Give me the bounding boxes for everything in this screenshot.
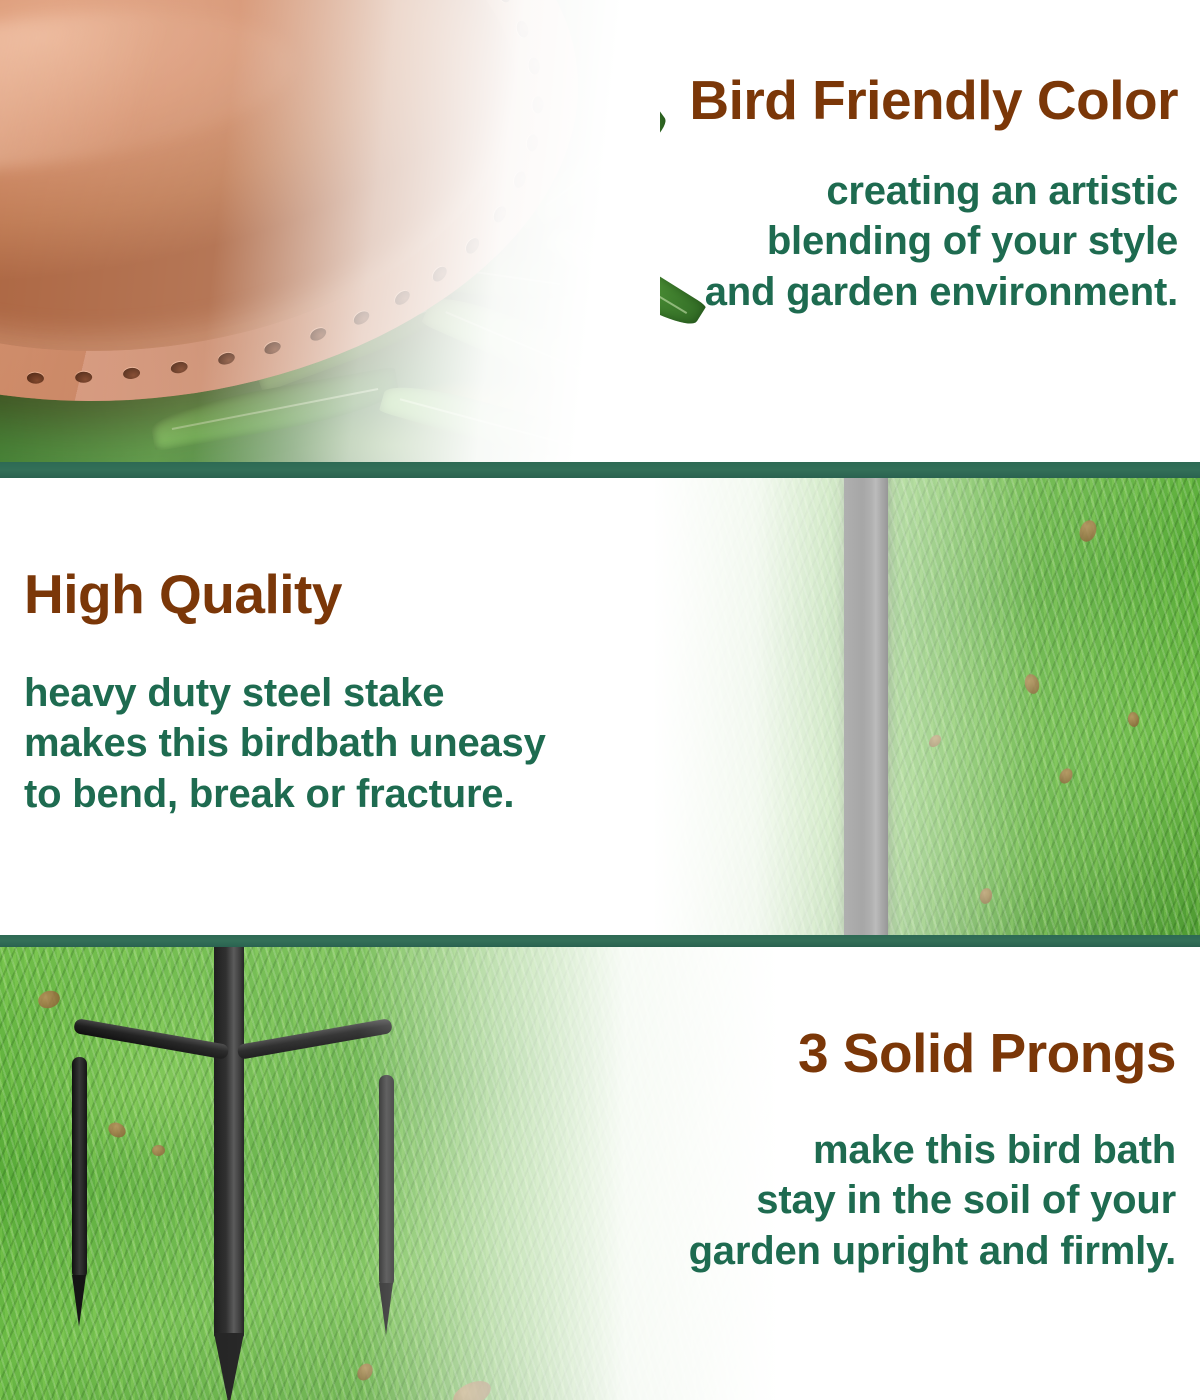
panel-1-body-line-3: and garden environment.: [578, 267, 1178, 317]
panel-1-body-line-2: blending of your style: [578, 216, 1178, 266]
panel-divider-2: [0, 935, 1200, 947]
panel-2-body: heavy duty steel stake makes this birdba…: [24, 668, 644, 819]
panel-1-body-line-1: creating an artistic: [578, 166, 1178, 216]
panel-1-body: creating an artistic blending of your st…: [578, 166, 1178, 317]
panel-high-quality: High Quality heavy duty steel stake make…: [0, 478, 1200, 935]
panel-3-body-line-2: stay in the soil of your: [576, 1175, 1176, 1225]
product-feature-infographic: Bird Friendly Color creating an artistic…: [0, 0, 1200, 1400]
panel-2-body-line-2: makes this birdbath uneasy: [24, 718, 644, 768]
panel-3-body-line-3: garden upright and firmly.: [576, 1226, 1176, 1276]
panel-divider-1: [0, 462, 1200, 478]
birdbath-bowl-photo: [0, 0, 660, 462]
panel-3-body: make this bird bath stay in the soil of …: [576, 1125, 1176, 1276]
photo-white-fade: [0, 0, 660, 462]
panel-3-text-block: 3 Solid Prongs make this bird bath stay …: [576, 1025, 1176, 1276]
panel-bird-friendly-color: Bird Friendly Color creating an artistic…: [0, 0, 1200, 462]
panel-3-body-line-1: make this bird bath: [576, 1125, 1176, 1175]
panel-1-heading: Bird Friendly Color: [578, 72, 1178, 128]
panel-2-text-block: High Quality heavy duty steel stake make…: [24, 566, 644, 819]
panel-1-text-block: Bird Friendly Color creating an artistic…: [578, 72, 1178, 317]
panel-2-heading: High Quality: [24, 566, 644, 622]
panel-2-body-line-3: to bend, break or fracture.: [24, 769, 644, 819]
panel-3-solid-prongs: 3 Solid Prongs make this bird bath stay …: [0, 947, 1200, 1400]
panel-3-heading: 3 Solid Prongs: [576, 1025, 1176, 1081]
panel-2-body-line-1: heavy duty steel stake: [24, 668, 644, 718]
